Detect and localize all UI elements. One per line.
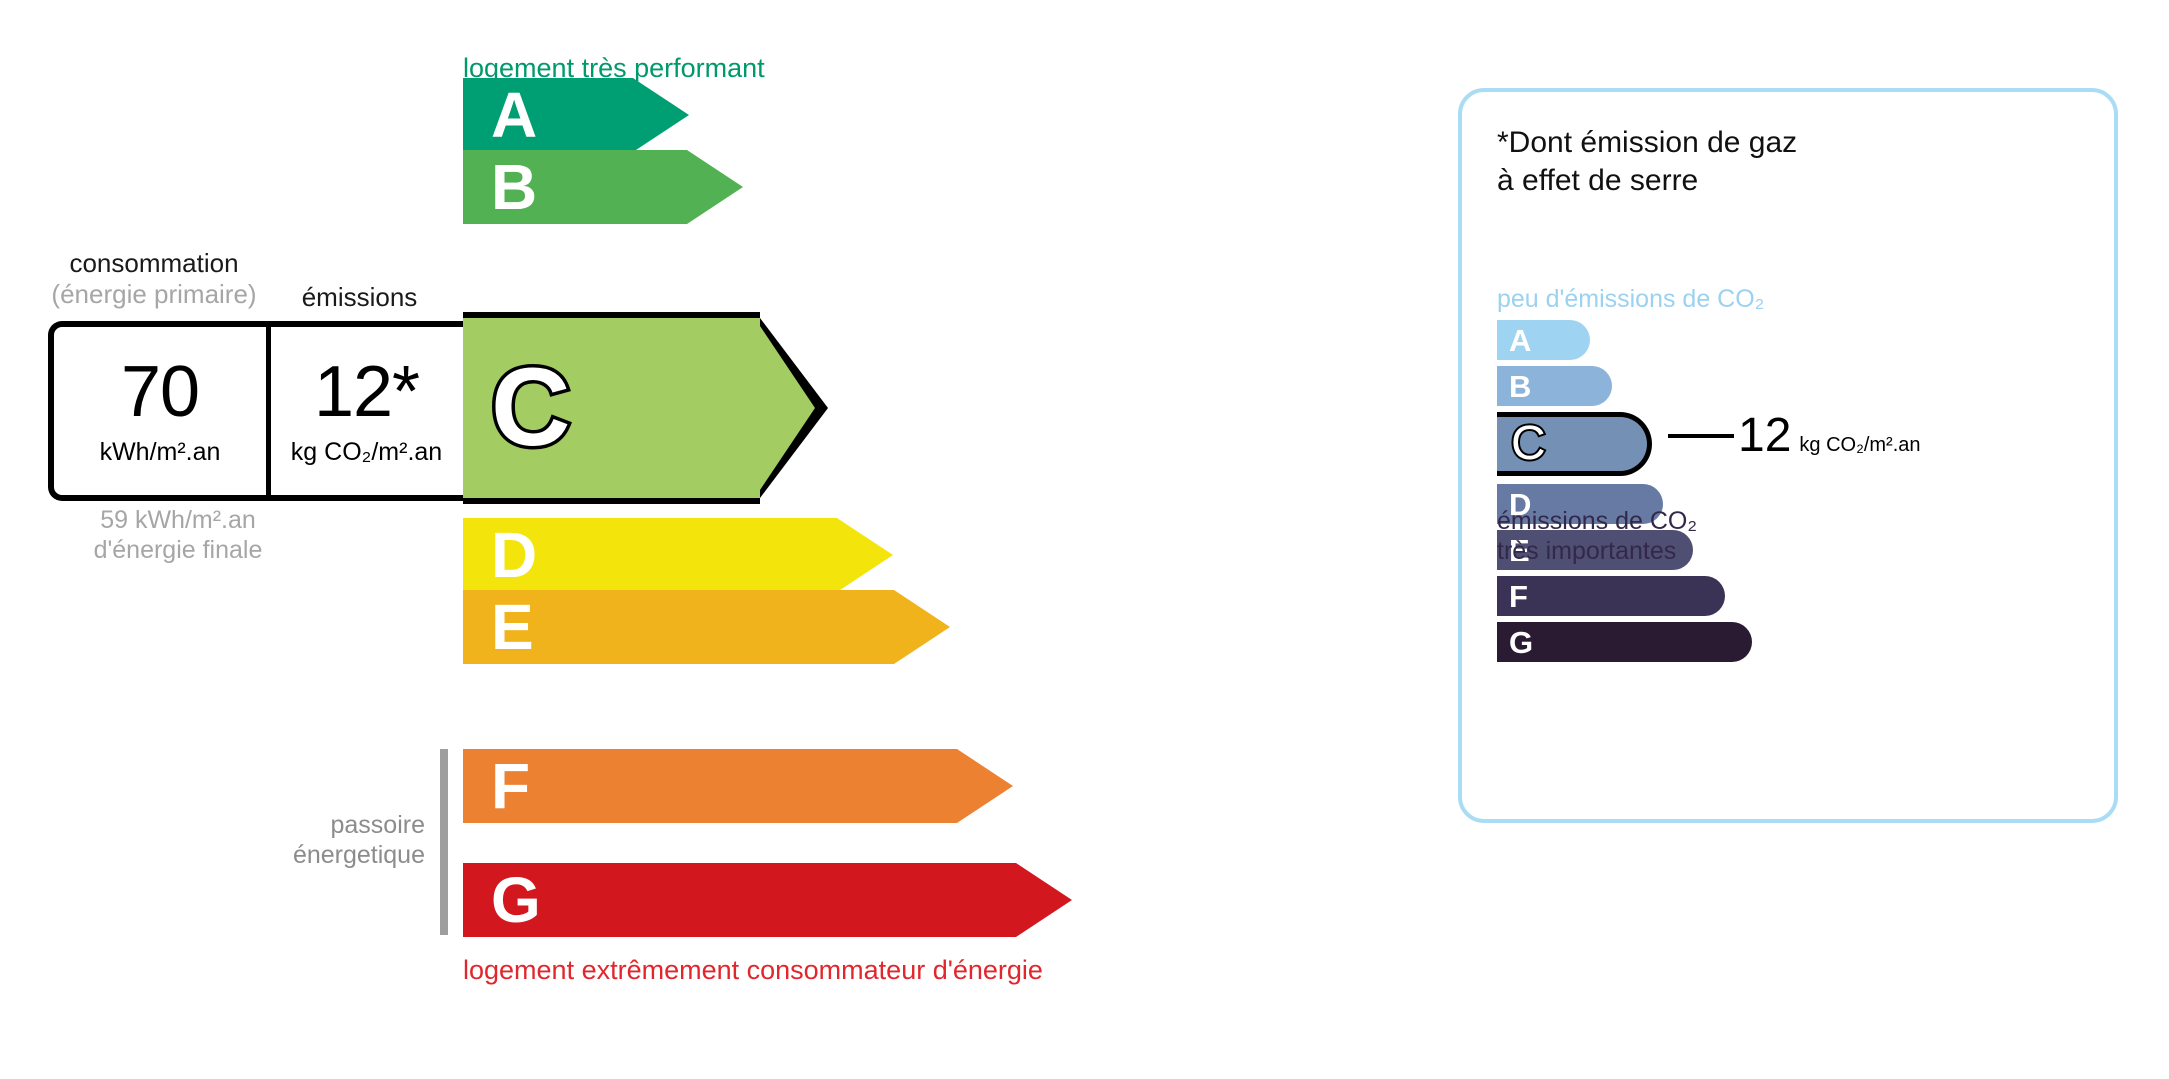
- co2-bar-c: C: [1497, 412, 1652, 476]
- ladder-bottom-caption: logement extrêmement consommateur d'éner…: [463, 955, 1043, 986]
- value-box: 70 kWh/m².an 12* kg CO₂/m².an: [48, 321, 463, 501]
- energy-arrow-c: C: [463, 318, 760, 498]
- emissions-value-cell: 12* kg CO₂/m².an: [266, 327, 462, 495]
- arrow-body: D: [463, 518, 837, 592]
- arrow-tip: [894, 590, 950, 664]
- arrow-body: A: [463, 78, 633, 152]
- energy-class-row-a: A: [463, 78, 689, 152]
- consumption-value: 70: [121, 356, 199, 428]
- co2-panel-title: *Dont émission de gaz à effet de serre: [1497, 124, 1797, 199]
- arrow-tip: [837, 518, 893, 592]
- arrow-tip: [687, 150, 743, 224]
- co2-bars: ABCDEFG: [1497, 320, 1752, 668]
- energy-class-row-d: D: [463, 518, 893, 592]
- energy-class-letter-b: B: [463, 155, 537, 219]
- emissions-value: 12*: [314, 356, 419, 428]
- arrow-body: B: [463, 150, 687, 224]
- energy-class-letter-f: F: [463, 754, 530, 818]
- co2-panel: *Dont émission de gaz à effet de serre p…: [1458, 88, 2118, 823]
- energy-class-row-f: F: [463, 749, 1013, 823]
- energy-class-letter-e: E: [463, 595, 534, 659]
- energy-arrow-d: D: [463, 518, 893, 592]
- consumption-header: consommation (énergie primaire): [48, 248, 260, 310]
- co2-letter-a: A: [1497, 325, 1531, 356]
- dpe-energy-ladder-panel: logement très performant ABCDEFG consomm…: [0, 0, 1400, 1079]
- emissions-header: émissions: [264, 282, 455, 313]
- energy-class-letter-a: A: [463, 83, 537, 147]
- co2-letter-g: G: [1497, 627, 1533, 658]
- energy-class-row-e: E: [463, 590, 950, 664]
- arrow-body: F: [463, 749, 957, 823]
- energy-class-letter-d: D: [463, 523, 537, 587]
- arrow-tip: [1016, 863, 1072, 937]
- co2-leader-line: [1668, 434, 1734, 438]
- co2-bar-g: G: [1497, 622, 1752, 662]
- energy-arrow-a: A: [463, 78, 689, 152]
- co2-bar-a: A: [1497, 320, 1590, 360]
- co2-bar-f: F: [1497, 576, 1725, 616]
- co2-letter-c: C: [1497, 420, 1546, 468]
- co2-letter-b: B: [1497, 371, 1531, 402]
- arrow-body: C: [463, 312, 760, 504]
- passoire-label: passoire énergetique: [195, 810, 425, 870]
- co2-top-caption: peu d'émissions de CO₂: [1497, 285, 1764, 314]
- co2-bar-row-g: G: [1497, 622, 1752, 662]
- arrow-body: G: [463, 863, 1016, 937]
- energy-class-letter-c: C: [463, 353, 570, 463]
- energy-class-letter-g: G: [463, 868, 541, 932]
- energy-class-row-c: C: [463, 318, 760, 498]
- energy-arrow-f: F: [463, 749, 1013, 823]
- co2-bar-row-a: A: [1497, 320, 1752, 360]
- emissions-unit: kg CO₂/m².an: [291, 438, 442, 467]
- consumption-unit: kWh/m².an: [100, 438, 221, 467]
- passoire-bracket: [440, 749, 448, 935]
- consumption-header-sub: (énergie primaire): [48, 279, 260, 310]
- co2-bar-row-b: B: [1497, 366, 1752, 406]
- co2-bar-row-f: F: [1497, 576, 1752, 616]
- energy-arrow-b: B: [463, 150, 743, 224]
- consumption-header-main: consommation: [69, 248, 238, 278]
- final-energy-note: 59 kWh/m².an d'énergie finale: [48, 505, 308, 565]
- co2-bar-b: B: [1497, 366, 1612, 406]
- energy-class-row-b: B: [463, 150, 743, 224]
- co2-callout: 12 kg CO₂/m².an: [1668, 412, 1921, 460]
- arrow-tip: [633, 78, 689, 152]
- co2-bottom-caption: émissions de CO₂ très importantes: [1497, 506, 1697, 566]
- energy-arrow-e: E: [463, 590, 950, 664]
- co2-callout-value: 12: [1738, 412, 1791, 460]
- energy-arrow-g: G: [463, 863, 1072, 937]
- consumption-value-cell: 70 kWh/m².an: [54, 327, 266, 495]
- co2-callout-unit: kg CO₂/m².an: [1799, 434, 1920, 457]
- energy-class-row-g: G: [463, 863, 1072, 937]
- co2-letter-f: F: [1497, 581, 1528, 612]
- arrow-tip: [957, 749, 1013, 823]
- arrow-body: E: [463, 590, 894, 664]
